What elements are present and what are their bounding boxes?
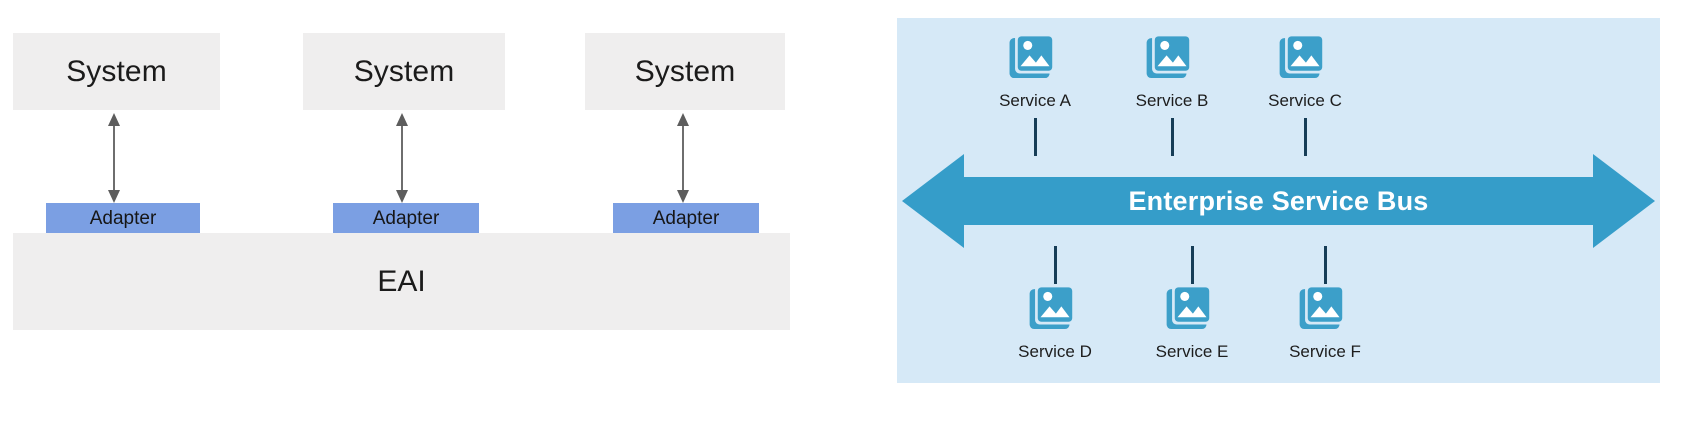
adapter-box-label: Adapter — [90, 208, 157, 230]
enterprise-service-bus: Enterprise Service Bus — [902, 148, 1655, 254]
system-box-label: System — [354, 55, 455, 89]
system-box: System — [585, 33, 785, 110]
eai-bar-label: EAI — [13, 233, 790, 330]
service-label: Service C — [1245, 91, 1365, 111]
service-label: Service E — [1132, 342, 1252, 362]
system-box: System — [13, 33, 220, 110]
eai-base-bar: EAI — [13, 233, 790, 330]
service-node: Service C — [1245, 30, 1365, 111]
service-node: Service A — [975, 30, 1095, 111]
bidirectional-arrow-icon — [674, 113, 692, 203]
double-headed-arrow-icon — [902, 148, 1655, 254]
adapter-box-label: Adapter — [653, 208, 720, 230]
photo-library-icon — [1026, 281, 1084, 339]
service-label: Service A — [975, 91, 1095, 111]
diagram-canvas: System System System Adapter Ad — [0, 0, 1685, 432]
service-node: Service B — [1112, 30, 1232, 111]
bidirectional-arrow-icon — [393, 113, 411, 203]
photo-library-icon — [1276, 30, 1334, 88]
esb-architecture-panel: Service A Service B Service C — [897, 18, 1660, 383]
photo-library-icon — [1143, 30, 1201, 88]
photo-library-icon — [1296, 281, 1354, 339]
photo-library-icon — [1163, 281, 1221, 339]
service-label: Service F — [1265, 342, 1385, 362]
service-connector-line — [1324, 246, 1327, 284]
photo-library-icon — [1006, 30, 1064, 88]
system-box-label: System — [66, 55, 167, 89]
service-node: Service D — [995, 281, 1115, 362]
adapter-box-label: Adapter — [373, 208, 440, 230]
system-box-label: System — [635, 55, 736, 89]
service-label: Service B — [1112, 91, 1232, 111]
adapter-box: Adapter — [613, 203, 759, 234]
adapter-box: Adapter — [333, 203, 479, 234]
service-node: Service F — [1265, 281, 1385, 362]
service-connector-line — [1191, 246, 1194, 284]
system-box: System — [303, 33, 505, 110]
service-node: Service E — [1132, 281, 1252, 362]
service-connector-line — [1054, 246, 1057, 284]
bidirectional-arrow-icon — [105, 113, 123, 203]
adapter-box: Adapter — [46, 203, 200, 234]
eai-architecture-panel: System System System Adapter Ad — [0, 0, 830, 432]
service-label: Service D — [995, 342, 1115, 362]
